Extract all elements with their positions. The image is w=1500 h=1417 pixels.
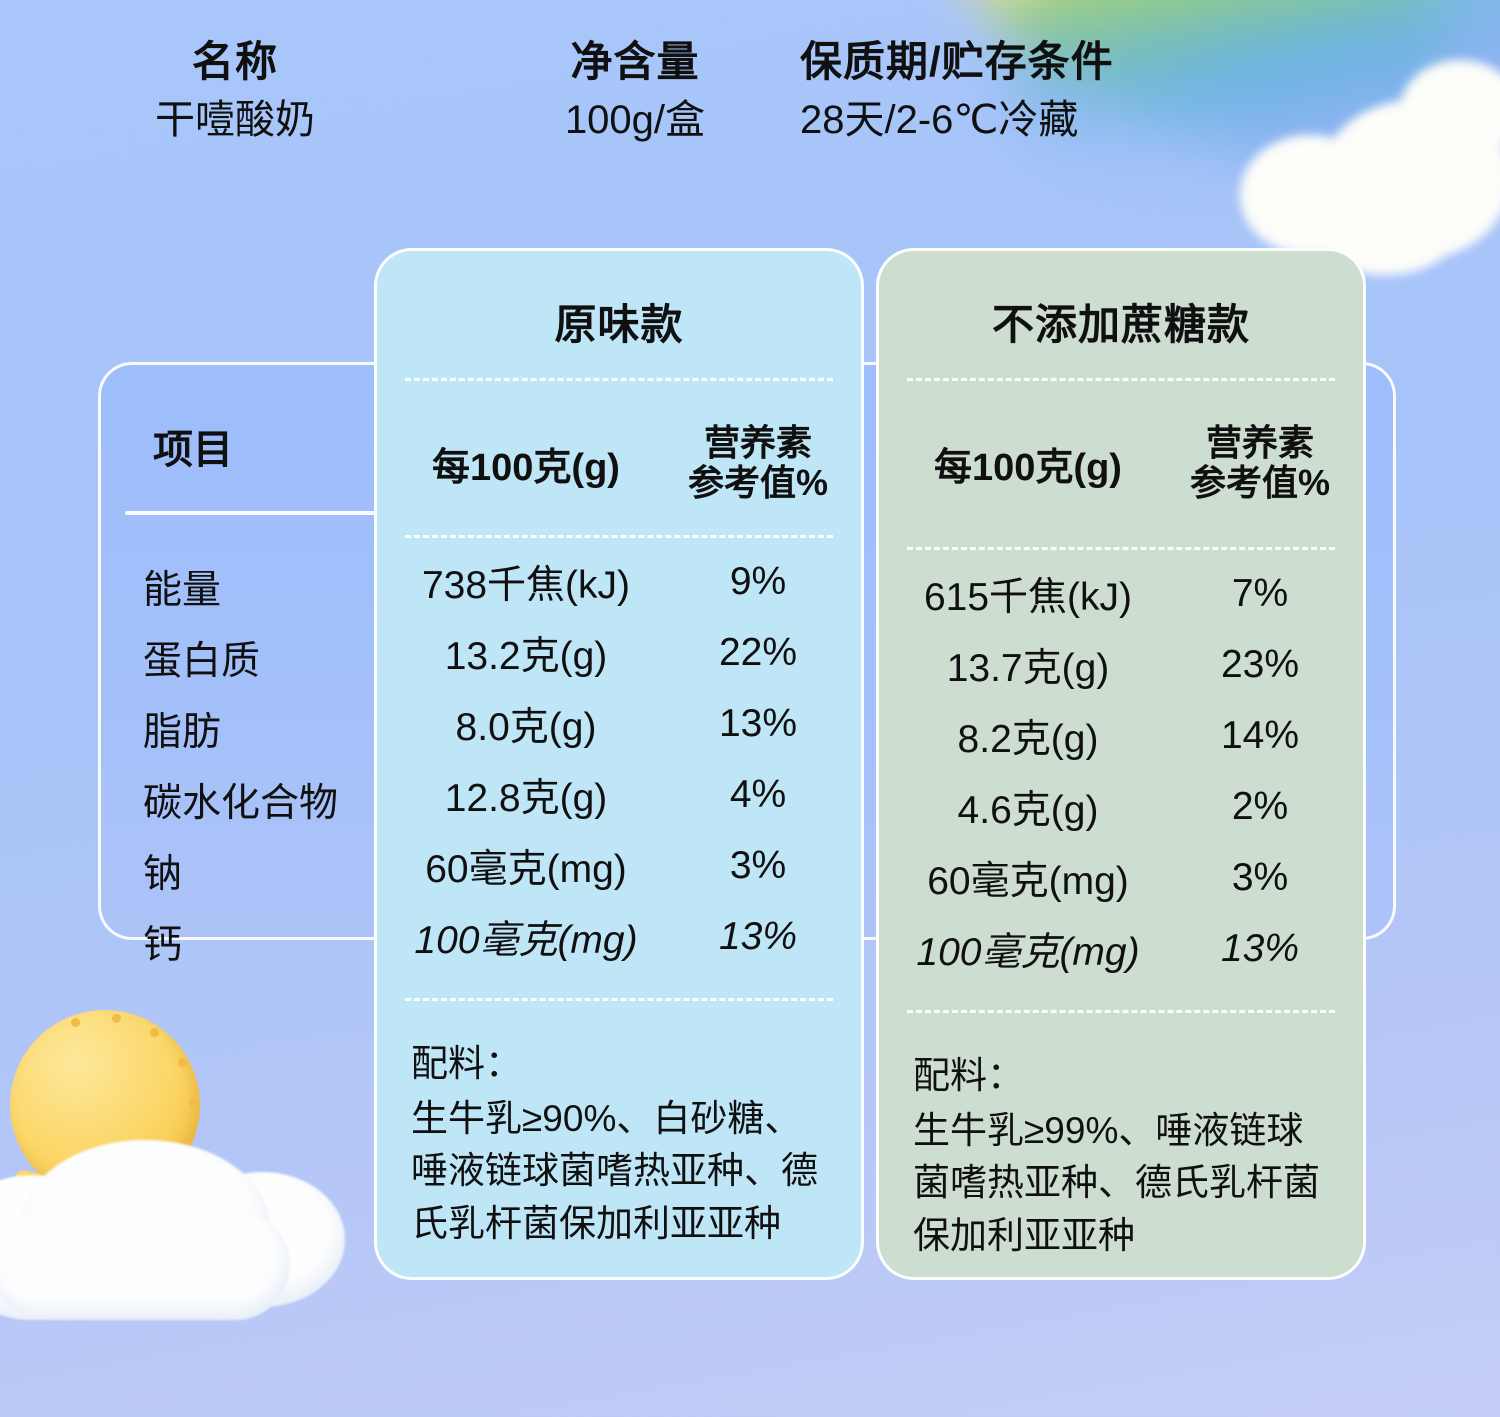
column-headers-plain: 每100克(g) 营养素 参考值% [377,381,861,521]
header-nrv-plain: 营养素 参考值% [665,423,851,504]
nutrient-value-row: 738千焦(kJ)9% [387,546,851,617]
nutrient-amount: 615千焦(kJ) [889,566,1167,622]
nutrient-value-row: 13.2克(g)22% [387,617,851,688]
nutrient-nrv: 13% [1167,927,1353,971]
header-nrv-line1-plain: 营养素 [665,423,851,463]
header-nrv-line2-plain: 参考值% [665,463,851,503]
nutrient-amount: 8.2克(g) [889,708,1167,764]
header-nrv-line2-nosugar: 参考值% [1167,463,1353,503]
nutrient-nrv: 3% [665,844,851,888]
summary-title-name: 名称 [0,36,470,89]
ingredients-label-plain: 配料： [411,1039,827,1089]
header-nrv-nosugar: 营养素 参考值% [1167,423,1353,504]
nutrient-amount: 738千焦(kJ) [387,554,665,610]
nutrient-amount: 60毫克(mg) [387,838,665,894]
summary-value-shelflife: 28天/2-6℃冷藏 [800,89,1500,151]
cloud-bottom-left-icon [0,1100,365,1340]
nutrient-amount: 60毫克(mg) [889,850,1167,906]
ingredients-text-nosugar: 生牛乳≥99%、唾液链球菌嗜热亚种、德氏乳杆菌保加利亚亚种 [913,1105,1329,1263]
product-title-nosugar: 不添加蔗糖款 [879,251,1363,352]
product-summary-header: 名称 干噎酸奶 净含量 100g/盒 保质期/贮存条件 28天/2-6℃冷藏 [0,36,1500,151]
product-card-plain: 原味款 每100克(g) 营养素 参考值% 738千焦(kJ)9%13.2克(g… [374,248,864,1280]
nutrient-nrv: 7% [1167,572,1353,616]
nutrient-amount: 8.0克(g) [387,696,665,752]
summary-value-netweight: 100g/盒 [470,89,800,151]
ingredients-label-nosugar: 配料： [913,1051,1329,1101]
nutrient-value-row: 12.8克(g)4% [387,759,851,830]
nutrient-value-row: 8.0克(g)13% [387,688,851,759]
nutrient-value-row: 100毫克(mg)13% [387,901,851,972]
nutrient-rows-nosugar: 615千焦(kJ)7%13.7克(g)23%8.2克(g)14%4.6克(g)2… [879,550,1363,984]
column-headers-nosugar: 每100克(g) 营养素 参考值% [879,381,1363,521]
nutrient-nrv: 9% [665,560,851,604]
product-card-nosugar: 不添加蔗糖款 每100克(g) 营养素 参考值% 615千焦(kJ)7%13.7… [876,248,1366,1280]
nutrient-nrv: 13% [665,915,851,959]
summary-column-name: 名称 干噎酸奶 [0,36,470,151]
nutrient-nrv: 22% [665,631,851,675]
nutrient-value-row: 13.7克(g)23% [889,629,1353,700]
nutrient-nrv: 14% [1167,714,1353,758]
summary-column-shelflife: 保质期/贮存条件 28天/2-6℃冷藏 [800,36,1500,151]
sun-rim-dot-icon [112,1014,121,1023]
header-nrv-line1-nosugar: 营养素 [1167,423,1353,463]
nutrient-value-row: 60毫克(mg)3% [387,830,851,901]
nutrient-amount: 4.6克(g) [889,779,1167,835]
nutrient-nrv: 3% [1167,856,1353,900]
item-column-header: 项目 [153,417,233,475]
nutrient-value-row: 615千焦(kJ)7% [889,558,1353,629]
nutrient-value-row: 60毫克(mg)3% [889,842,1353,913]
ingredients-text-plain: 生牛乳≥90%、白砂糖、唾液链球菌嗜热亚种、德氏乳杆菌保加利亚亚种 [411,1093,827,1251]
product-title-plain: 原味款 [377,251,861,352]
nutrient-nrv: 23% [1167,643,1353,687]
summary-column-netweight: 净含量 100g/盒 [470,36,800,151]
nutrient-value-row: 100毫克(mg)13% [889,913,1353,984]
nutrient-nrv: 4% [665,773,851,817]
header-amount-nosugar: 每100克(g) [889,436,1167,491]
nutrient-amount: 100毫克(mg) [387,909,665,965]
ingredients-block-nosugar: 配料： 生牛乳≥99%、唾液链球菌嗜热亚种、德氏乳杆菌保加利亚亚种 [879,1013,1363,1263]
summary-title-netweight: 净含量 [470,36,800,89]
nutrient-amount: 13.2克(g) [387,625,665,681]
header-amount-plain: 每100克(g) [387,436,665,491]
summary-value-name: 干噎酸奶 [0,89,470,151]
nutrient-rows-plain: 738千焦(kJ)9%13.2克(g)22%8.0克(g)13%12.8克(g)… [377,538,861,972]
summary-title-shelflife: 保质期/贮存条件 [800,36,1500,89]
nutrient-amount: 12.8克(g) [387,767,665,823]
nutrient-value-row: 4.6克(g)2% [889,771,1353,842]
nutrient-amount: 13.7克(g) [889,637,1167,693]
nutrient-nrv: 13% [665,702,851,746]
nutrient-value-row: 8.2克(g)14% [889,700,1353,771]
nutrient-amount: 100毫克(mg) [889,921,1167,977]
nutrient-nrv: 2% [1167,785,1353,829]
ingredients-block-plain: 配料： 生牛乳≥90%、白砂糖、唾液链球菌嗜热亚种、德氏乳杆菌保加利亚亚种 [377,1001,861,1251]
